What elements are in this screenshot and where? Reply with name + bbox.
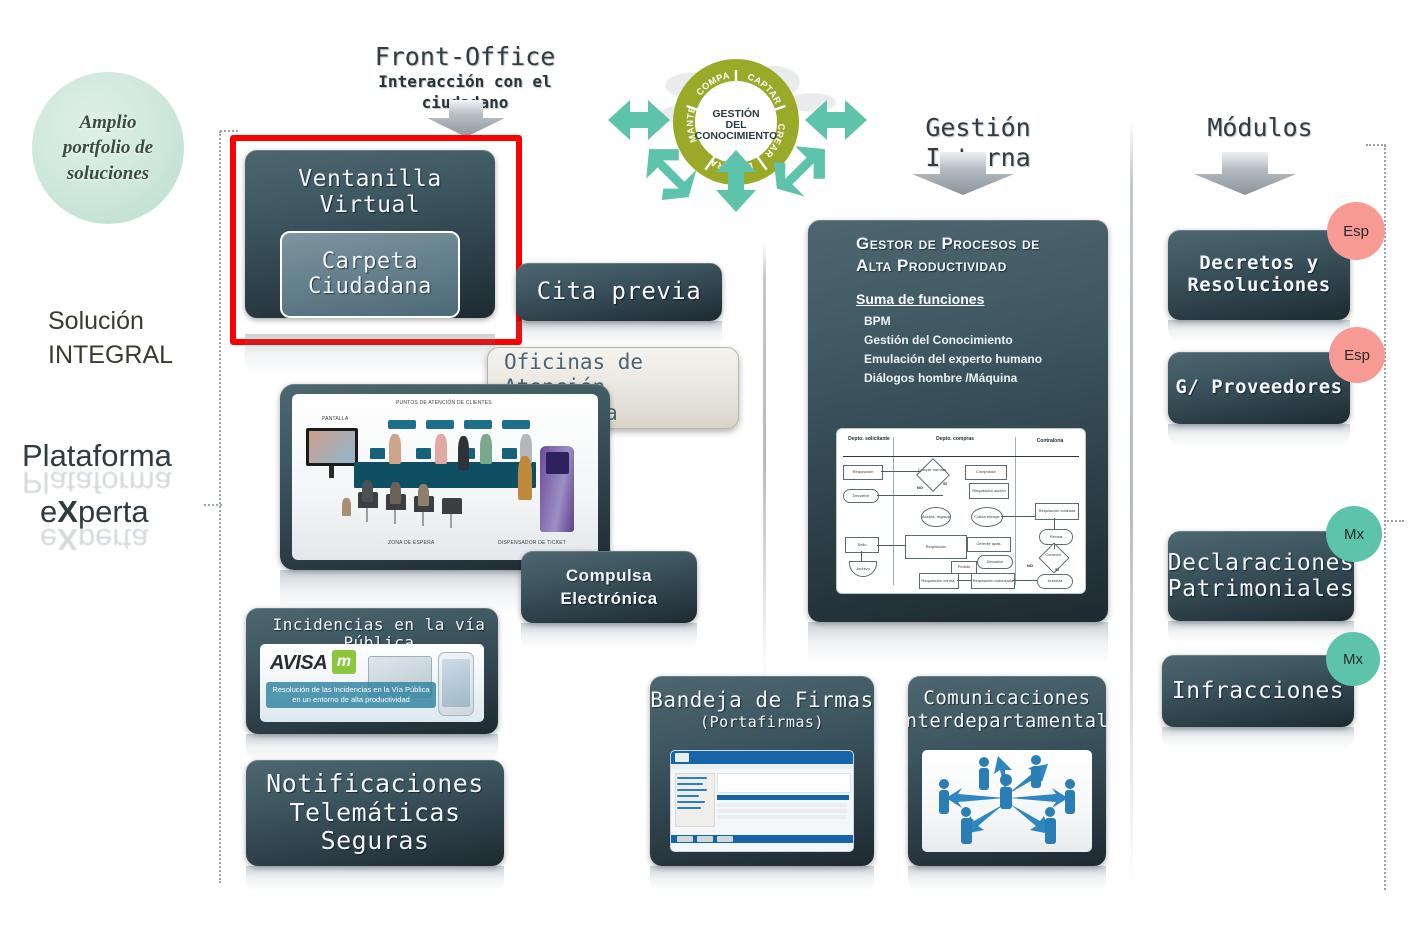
right-bracket-tick-mid xyxy=(1384,520,1404,522)
comunicaciones-line1: Comunicaciones xyxy=(923,688,1090,710)
right-bracket-line xyxy=(1384,145,1386,890)
avisa-caption-line1: Resolución de las Incidencias en la Vía … xyxy=(272,685,430,695)
office-desk-point-4 xyxy=(502,420,530,429)
bandeja-firmas-box[interactable]: Bandeja de Firmas (Portafirmas) xyxy=(650,676,874,866)
left-bracket-line xyxy=(219,131,221,883)
front-office-arrow-icon xyxy=(425,100,507,138)
office-monitor-2 xyxy=(416,448,431,459)
flowchart-node-sello: Sello xyxy=(845,537,879,553)
ventanilla-virtual-box[interactable]: Ventanilla Virtual Carpeta Ciudadana xyxy=(245,150,495,318)
carpeta-line1: Carpeta xyxy=(322,249,418,274)
badge-proveedores-label: Esp xyxy=(1344,347,1370,364)
flowchart-node-requisicion-stack: Requisición xyxy=(905,535,967,559)
flowchart-line-5 xyxy=(957,580,971,581)
wheel-arrow-down-icon xyxy=(712,150,760,212)
flowchart-divider-2 xyxy=(1015,437,1016,585)
ventanilla-virtual-title: Ventanilla Virtual xyxy=(245,166,495,219)
center-divider-left xyxy=(763,243,766,681)
network-arrows-icon xyxy=(922,750,1092,852)
plataforma-experta-label: Plataforma Plataforma eXperta eXperta xyxy=(22,440,172,555)
compulsa-line1: Compulsa xyxy=(566,566,652,586)
modulo-decretos-resoluciones-box[interactable]: Decretos y Resoluciones xyxy=(1168,230,1350,320)
cita-previa-reflection xyxy=(516,321,722,347)
modulo-decretos-line2: Resoluciones xyxy=(1187,275,1330,297)
app-table-row-2 xyxy=(717,809,847,813)
modulo-declaraciones-line2: Patrimoniales xyxy=(1168,576,1354,602)
flowchart-line-6 xyxy=(1013,580,1037,581)
incidencias-via-publica-box[interactable]: Incidencias en la vía Pública AVISA m Re… xyxy=(246,608,498,734)
portafirmas-app-screenshot xyxy=(670,750,854,852)
flowchart-header-rule xyxy=(843,456,1079,457)
svg-text:CONOCIMIENTO: CONOCIMIENTO xyxy=(695,130,778,142)
flowchart-divider-1 xyxy=(893,437,894,585)
app-sidebar xyxy=(675,773,715,827)
carpeta-ciudadana-inner-box[interactable]: Carpeta Ciudadana xyxy=(280,231,460,318)
plataforma-line1-mirror: Plataforma xyxy=(22,467,172,498)
flowchart-node-archivo: Archivo xyxy=(849,561,877,577)
office-person-staff-2 xyxy=(435,434,447,464)
flowchart-node-gerente: Gerente apas. xyxy=(967,537,1011,552)
comunicaciones-interdepartamentales-box[interactable]: Comunicaciones Interdepartamentale xyxy=(908,676,1106,866)
office-monitor-1 xyxy=(370,448,385,459)
flowchart-node-devuelve-1: Devuelve xyxy=(843,489,879,503)
badge-decretos: Esp xyxy=(1327,202,1385,260)
gestor-function-1: BPM xyxy=(864,314,891,328)
flowchart-si-2: SÍ xyxy=(1055,567,1059,572)
office-label-zona-espera: ZONA DE ESPERA xyxy=(388,540,434,546)
cita-previa-box[interactable]: Cita previa xyxy=(516,263,722,321)
amplio-portfolio-circle: Amplio portfolio de soluciones xyxy=(32,72,184,224)
experta-a-mirror: e xyxy=(40,522,57,557)
flowchart-node-requisicion-1: Requisición xyxy=(843,465,883,480)
experta-c-mirror: perta xyxy=(78,522,149,557)
office-counter xyxy=(354,462,536,488)
right-bracket-tick-top xyxy=(1366,144,1386,146)
compulsa-electronica-box[interactable]: Compulsa Electrónica xyxy=(521,551,697,623)
office-tv-stand xyxy=(329,466,334,478)
modulo-declaraciones-patrimoniales-box[interactable]: Declaraciones Patrimoniales xyxy=(1168,531,1354,621)
office-person-kiosk-user xyxy=(518,456,532,500)
modulos-arrow-icon xyxy=(1190,152,1300,196)
flowchart-decision-correcta-label: Correcta xyxy=(1036,553,1070,557)
office-monitor-4 xyxy=(502,448,517,459)
flowchart-line-8 xyxy=(1054,518,1055,529)
notificaciones-reflection xyxy=(246,866,504,892)
office-desk-point-3 xyxy=(464,420,492,429)
office-person-standing xyxy=(458,436,469,470)
app-sidebar-row-3 xyxy=(677,789,707,791)
office-chair-4 xyxy=(442,498,462,514)
avisa-phone-screen xyxy=(442,659,470,707)
modulo-declaraciones-line1: Declaraciones xyxy=(1168,550,1354,576)
flowchart-no-2: NO xyxy=(1027,563,1033,568)
office-kiosk-screen xyxy=(546,452,569,474)
solucion-line1: Solución xyxy=(48,305,173,339)
flowchart-node-requisicion-autorizada: Requisición autorizada xyxy=(971,573,1015,589)
notificaciones-telematicas-box[interactable]: Notificaciones Telemáticas Seguras xyxy=(246,760,504,866)
gestion-interna-arrow-icon xyxy=(908,152,1018,196)
app-table-row-1 xyxy=(717,803,847,807)
modulo-declaraciones-reflection xyxy=(1168,621,1354,643)
modulo-infracciones-box[interactable]: Infracciones xyxy=(1162,655,1354,727)
avisa-caption: Resolución de las Incidencias en la Vía … xyxy=(266,682,436,708)
comunicaciones-line2: Interdepartamentale xyxy=(908,711,1106,733)
modulo-proveedores-box[interactable]: G/ Proveedores xyxy=(1168,352,1350,424)
solucion-line2: INTEGRAL xyxy=(48,339,173,373)
badge-declaraciones-label: Mx xyxy=(1344,526,1364,543)
gestor-function-3: Emulación del experto humano xyxy=(864,352,1042,366)
flowchart-line-3 xyxy=(1001,516,1035,517)
amplio-portfolio-label: Amplio portfolio de soluciones xyxy=(32,110,184,187)
flowchart-line-1 xyxy=(881,471,921,472)
left-bracket-tick-mid xyxy=(204,504,222,506)
flowchart-node-requisicion-contra: Requisición contra.. xyxy=(919,573,959,589)
gestor-subtitle: Suma de funciones xyxy=(856,291,984,307)
office-photo-frame: PUNTOS DE ATENCIÓN DE CLIENTES PANTALLA … xyxy=(280,384,610,570)
app-titlebar xyxy=(671,751,853,764)
flowchart-line-4 xyxy=(877,545,905,546)
badge-proveedores: Esp xyxy=(1329,327,1385,383)
flowchart-line-7 xyxy=(861,551,862,561)
gestor-title-line2: Alta Productividad xyxy=(856,256,1007,276)
flowchart-node-revisa: Revisa xyxy=(1039,529,1073,545)
wheel-arrow-left-icon xyxy=(608,96,670,144)
office-label-puntos: PUNTOS DE ATENCIÓN DE CLIENTES xyxy=(396,400,492,406)
badge-decretos-label: Esp xyxy=(1343,223,1369,240)
app-action-button-3 xyxy=(717,836,733,842)
flowchart-col-header-1: Depto. solicitante xyxy=(847,437,891,443)
office-label-dispensador: DISPENSADOR DE TICKET xyxy=(498,540,566,546)
office-chair-leg-3 xyxy=(422,512,424,526)
app-sidebar-row-2 xyxy=(677,783,703,785)
flowchart-line-9 xyxy=(1054,543,1055,549)
app-logo-icon xyxy=(675,753,689,762)
badge-infracciones: Mx xyxy=(1326,632,1380,686)
left-bracket-tick-top xyxy=(220,130,238,132)
network-illustration xyxy=(922,750,1092,852)
app-filter-panel xyxy=(717,773,851,793)
badge-declaraciones: Mx xyxy=(1326,506,1382,562)
app-table-row-3 xyxy=(717,815,847,819)
solucion-integral-label: Solución INTEGRAL xyxy=(48,305,173,373)
flowchart-node-requisicion-cotizada: Requisición cotizada xyxy=(1035,503,1079,520)
office-chair-leg-1 xyxy=(366,508,368,522)
avisa-caption-line2: en un entorno de alta productividad xyxy=(272,695,430,705)
office-chair-leg-4 xyxy=(450,514,452,528)
app-table-header xyxy=(717,795,849,800)
modulos-header: Módulos xyxy=(1160,113,1360,143)
office-person-waiting-4 xyxy=(342,498,351,516)
flowchart-line-2 xyxy=(877,495,943,496)
front-office-title: Front-Office xyxy=(345,42,585,72)
modulo-infracciones-reflection xyxy=(1162,727,1354,749)
office-person-waiting-2 xyxy=(390,482,401,504)
incidencias-reflection xyxy=(246,734,498,762)
modulo-decretos-line1: Decretos y xyxy=(1199,253,1318,275)
cita-previa-label: Cita previa xyxy=(537,278,701,306)
flowchart-no-1: NO xyxy=(917,485,923,490)
gestor-function-4: Diálogos hombre /Máquina xyxy=(864,371,1017,385)
center-divider-right xyxy=(1130,120,1133,890)
wheel-arrow-down-right-icon xyxy=(772,140,834,202)
office-desk-point-1 xyxy=(388,420,416,429)
office-person-staff-1 xyxy=(389,434,401,464)
office-person-waiting-1 xyxy=(362,480,373,502)
modulos-title: Módulos xyxy=(1160,113,1360,143)
avisa-logo-text: AVISA xyxy=(270,652,327,675)
modulo-proveedores-reflection xyxy=(1168,424,1350,446)
bandeja-reflection xyxy=(650,866,874,892)
compulsa-line2: Electrónica xyxy=(560,589,657,609)
comunicaciones-reflection xyxy=(908,866,1106,892)
office-label-pantalla: PANTALLA xyxy=(322,416,348,422)
diagram-canvas: Amplio portfolio de soluciones Solución … xyxy=(0,0,1426,940)
avisa-phone-image xyxy=(438,652,474,716)
experta-x-mirror: X xyxy=(57,522,78,557)
app-sidebar-row-5 xyxy=(677,801,705,803)
gestor-title-line1: Gestor de Procesos de xyxy=(856,234,1040,254)
gestor-reflection xyxy=(808,622,1108,664)
modulo-decretos-reflection xyxy=(1168,320,1350,342)
process-flowchart-image: Depto. solicitante Depto. compras Contra… xyxy=(836,428,1086,594)
flowchart-node-cotiza: Cotiza escoge xyxy=(971,507,1003,527)
carpeta-line2: Ciudadana xyxy=(308,274,432,299)
compulsa-reflection xyxy=(521,623,697,649)
flowchart-col-header-2: Depto. compras xyxy=(931,437,979,443)
modulo-proveedores-label: G/ Proveedores xyxy=(1175,377,1342,399)
app-action-button-1 xyxy=(677,836,693,842)
avisa-logo-mark: m xyxy=(332,650,356,674)
app-sidebar-row-6 xyxy=(677,807,701,809)
flowchart-node-comprador: Comprador xyxy=(965,465,1007,480)
flowchart-node-requisicion-accion: Requisición acción xyxy=(969,483,1009,499)
notificaciones-line2: Telemáticas Seguras xyxy=(246,799,504,857)
avisa-banner: AVISA m Resolución de las Incidencias en… xyxy=(260,644,484,722)
bandeja-firmas-subtitle: (Portafirmas) xyxy=(700,714,824,731)
badge-infracciones-label: Mx xyxy=(1343,651,1363,668)
flowchart-col-header-3: Contraloría xyxy=(1025,439,1075,445)
flowchart-node-acepta: Acepta, registra xyxy=(921,507,951,527)
wheel-arrow-down-left-icon xyxy=(640,140,702,202)
office-desk-point-2 xyxy=(426,420,454,429)
office-person-waiting-3 xyxy=(418,484,429,506)
app-action-button-2 xyxy=(697,836,713,842)
office-tv-screen xyxy=(309,431,355,463)
experta-line-mirror: eXperta xyxy=(22,524,172,555)
office-chair-leg-2 xyxy=(394,510,396,524)
flowchart-node-devuelve-2: Devuelve xyxy=(977,555,1013,569)
modulo-infracciones-label: Infracciones xyxy=(1172,678,1344,704)
app-sidebar-row-4 xyxy=(677,795,699,797)
gestor-function-2: Gestión del Conocimiento xyxy=(864,333,1013,347)
bandeja-firmas-title: Bandeja de Firmas xyxy=(650,688,873,712)
flowchart-si-1: SÍ xyxy=(943,481,947,486)
flowchart-node-autoriza: Autoriza xyxy=(1037,574,1073,589)
gestor-procesos-box[interactable]: Gestor de Procesos de Alta Productividad… xyxy=(808,220,1108,622)
app-menubar xyxy=(671,764,853,769)
office-person-staff-3 xyxy=(480,434,492,464)
wheel-arrow-right-icon xyxy=(805,96,867,144)
app-sidebar-row-1 xyxy=(677,777,707,779)
notificaciones-line1: Notificaciones xyxy=(266,770,484,799)
office-scene-illustration: PUNTOS DE ATENCIÓN DE CLIENTES PANTALLA … xyxy=(292,394,598,560)
